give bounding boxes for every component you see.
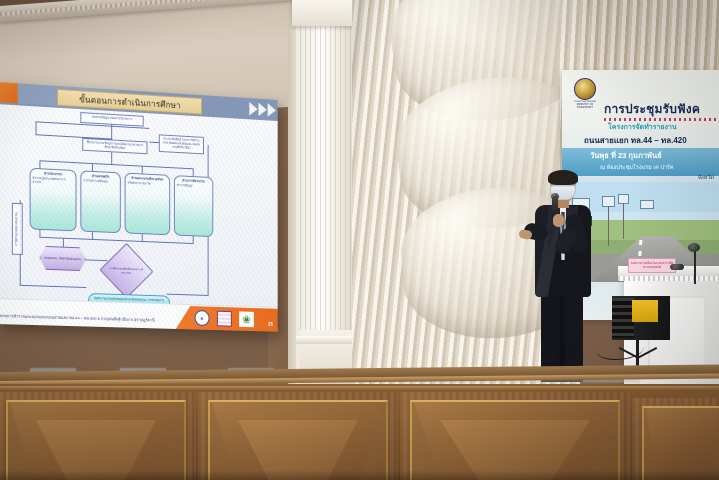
banner-venue: ณ ห้องประชุมโรงแรม เค ปาร์ค bbox=[600, 164, 674, 172]
wood-panel bbox=[632, 398, 719, 480]
government-crest-icon: กรมทางหลวงชนบท MINISTRY OF TRANSPORT bbox=[572, 78, 598, 108]
banner-date: วันพุธ ที่ 23 กุมภาพันธ์ bbox=[590, 150, 662, 162]
gooseneck-mic-icon bbox=[688, 243, 700, 252]
podium-trim bbox=[618, 276, 719, 281]
road-sign-icon bbox=[640, 200, 654, 209]
podium-notice-sign: ขอความร่วมมือเว้นระยะห่าง เพื่อความปลอดภ… bbox=[628, 258, 676, 273]
projection-screen: ขั้นตอนการดำเนินการศึกษา bbox=[0, 82, 278, 332]
banner-subtitle: โครงการจัดทำรายงาน bbox=[608, 122, 677, 133]
table-mic-icon bbox=[670, 264, 684, 270]
wood-panel bbox=[0, 392, 196, 480]
speaker-right-hand bbox=[553, 214, 564, 227]
column-flutes bbox=[300, 22, 352, 377]
bottom-shadow bbox=[0, 470, 719, 480]
crest-caption: กรมทางหลวงชนบท MINISTRY OF TRANSPORT bbox=[572, 101, 598, 110]
speaker-hair bbox=[548, 170, 578, 185]
sign-pole bbox=[623, 203, 624, 239]
speaker-person bbox=[524, 172, 600, 380]
banner-route: ถนนสายแยก ทล.44 – ทล.420 bbox=[584, 134, 687, 147]
banner-province: จังหวัด bbox=[698, 174, 714, 182]
banner-divider bbox=[604, 118, 719, 121]
wood-panel bbox=[198, 392, 398, 480]
column-base-trim bbox=[296, 336, 360, 344]
equipment-yellow-panel bbox=[632, 300, 658, 322]
gooseneck-mic-stem bbox=[694, 250, 696, 284]
screen-texture bbox=[0, 82, 278, 332]
equipment-vents bbox=[612, 298, 634, 338]
wood-panel bbox=[400, 392, 630, 480]
face-mask-strap bbox=[548, 186, 578, 187]
banner-title: การประชุมรับฟังค bbox=[604, 100, 700, 119]
sign-pole bbox=[608, 206, 609, 246]
panel-top-ledge bbox=[0, 386, 719, 391]
conference-hall-photo: ขั้นตอนการดำเนินการศึกษา bbox=[0, 0, 719, 480]
